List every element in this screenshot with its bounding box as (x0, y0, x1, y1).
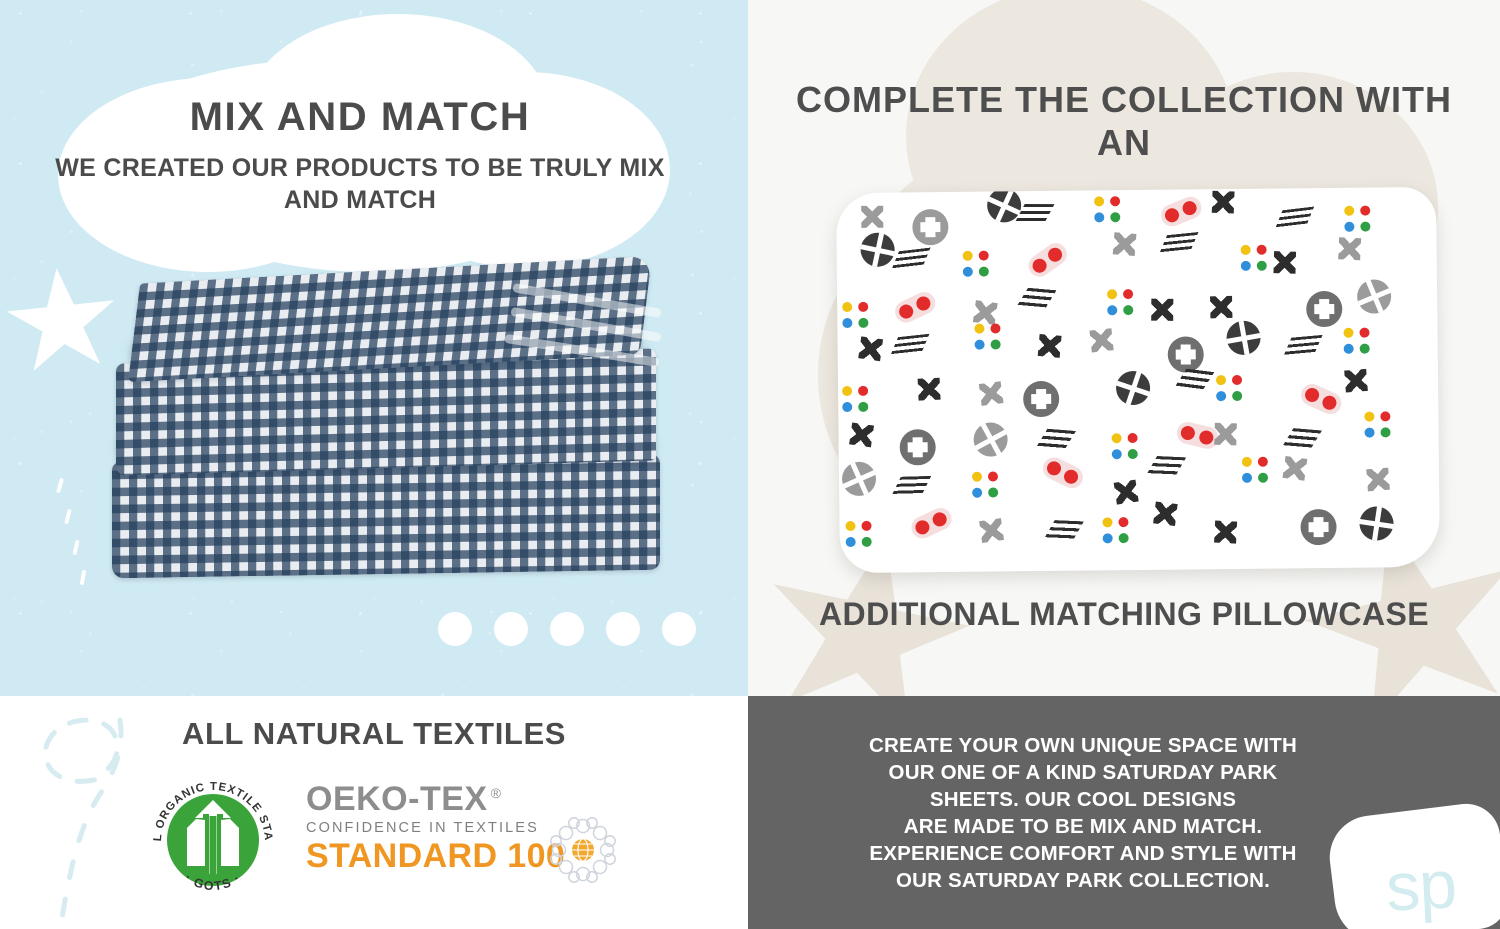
oeko-tex-tagline: CONFIDENCE IN TEXTILES (306, 820, 556, 836)
oeko-tex-name: OEKO-TEX® (306, 782, 556, 816)
panel-mix-and-match: MIX AND MATCH WE CREATED OUR PRODUCTS TO… (0, 0, 748, 696)
infographic-page: MIX AND MATCH WE CREATED OUR PRODUCTS TO… (0, 0, 1500, 929)
print-motif-quad (1242, 456, 1268, 482)
brand-description-line: OUR ONE OF A KIND SATURDAY PARK (788, 759, 1378, 786)
print-motif-xmark (1153, 501, 1178, 526)
collection-headline: COMPLETE THE COLLECTION WITH AN (774, 78, 1474, 164)
brand-description-line: ARE MADE TO BE MIX AND MATCH. (788, 813, 1378, 840)
print-motif-quad (1102, 517, 1128, 543)
collection-text-block: COMPLETE THE COLLECTION WITH AN (774, 78, 1474, 164)
print-motif-stick (837, 457, 882, 502)
print-motif-quad (1107, 289, 1133, 315)
print-motif-capsule (892, 288, 939, 326)
print-motif-quad (1111, 433, 1137, 459)
print-motif-hatch (1159, 231, 1199, 254)
print-motif-stick (968, 416, 1014, 462)
dot (606, 612, 640, 646)
print-motif-quad (1344, 205, 1370, 231)
print-motif-capsule (1158, 194, 1205, 230)
print-motif-stick (1223, 318, 1262, 357)
print-motif-hatch (1145, 456, 1186, 477)
star-decoration-icon (3, 263, 121, 379)
print-motif-quad (1343, 327, 1369, 353)
print-motif-xmark (1274, 251, 1297, 274)
dashed-fleck-decoration (48, 478, 108, 588)
print-motif-dpad (1023, 381, 1059, 417)
mix-and-match-subtext: WE CREATED OUR PRODUCTS TO BE TRULY MIX … (50, 153, 670, 216)
pillowcase-product-image (836, 187, 1440, 573)
dot (662, 612, 696, 646)
print-motif-hatch (1281, 428, 1322, 450)
print-motif-xmark (979, 518, 1004, 543)
print-motif-hatch (1174, 368, 1215, 391)
print-motif-stick (1111, 367, 1154, 410)
print-motif-stick (858, 230, 898, 270)
panel-complete-the-collection: COMPLETE THE COLLECTION WITH AN ADDITION… (748, 0, 1500, 696)
pillowcase-caption: ADDITIONAL MATCHING PILLOWCASE (764, 596, 1484, 633)
print-motif-stick (1357, 504, 1396, 543)
game-controller-print-pattern (836, 187, 1440, 573)
mix-and-match-text-block: MIX AND MATCH WE CREATED OUR PRODUCTS TO… (50, 95, 670, 216)
print-motif-dpad (1300, 509, 1336, 545)
print-motif-hatch (1044, 520, 1085, 541)
print-motif-hatch (890, 334, 930, 357)
print-motif-dpad (1167, 336, 1203, 372)
print-motif-quad (1364, 412, 1390, 438)
print-motif-capsule (1039, 454, 1086, 492)
print-motif-xmark (1214, 520, 1237, 543)
print-motif-hatch (890, 248, 930, 272)
print-motif-hatch (1275, 207, 1315, 231)
print-motif-xmark (917, 378, 940, 401)
print-motif-dpad (912, 209, 948, 245)
print-motif-quad (842, 302, 868, 328)
print-motif-xmark (1282, 456, 1307, 481)
all-natural-textiles-title: ALL NATURAL TEXTILES (0, 716, 748, 752)
registered-trademark-icon: ® (491, 785, 502, 801)
print-motif-stick (1352, 274, 1396, 318)
print-motif-capsule (1174, 420, 1220, 451)
print-motif-xmark (1210, 296, 1232, 318)
print-motif-xmark (858, 337, 883, 362)
brand-description-line: EXPERIENCE COMFORT AND STYLE WITH (788, 840, 1378, 867)
print-motif-hatch (891, 476, 931, 497)
print-motif-hatch (1035, 429, 1076, 451)
print-motif-xmark (1338, 237, 1361, 260)
brand-description-line: SHEETS. OUR COOL DESIGNS (788, 786, 1378, 813)
oeko-tex-wordmark: OEKO-TEX (306, 780, 488, 818)
print-motif-quad (842, 386, 868, 412)
print-motif-xmark (1211, 190, 1234, 213)
print-motif-xmark (1090, 328, 1114, 352)
print-motif-quad (972, 472, 998, 498)
print-motif-quad (963, 250, 989, 276)
gingham-sheet-stack-image (112, 262, 672, 582)
oeko-tex-standard: STANDARD 100 (306, 839, 556, 875)
oeko-tex-globe-emblem-icon (545, 812, 621, 888)
print-motif-quad (975, 323, 1001, 349)
dot-row-decoration (438, 612, 696, 646)
print-motif-xmark (1214, 423, 1237, 446)
print-motif-quad (845, 521, 871, 547)
print-motif-dpad (1306, 291, 1342, 327)
print-motif-xmark (1345, 368, 1369, 392)
oeko-tex-certification-logo: OEKO-TEX® CONFIDENCE IN TEXTILES STANDAR… (306, 782, 556, 875)
mix-and-match-headline: MIX AND MATCH (50, 95, 670, 139)
print-motif-xmark (1113, 232, 1137, 256)
print-motif-xmark (861, 206, 883, 228)
saturday-park-logo: sp (1354, 843, 1488, 929)
print-motif-capsule (907, 504, 954, 542)
print-motif-xmark (972, 300, 997, 325)
dot (550, 612, 584, 646)
brand-description-line: OUR SATURDAY PARK COLLECTION. (788, 867, 1378, 894)
print-motif-xmark (1038, 334, 1062, 358)
print-motif-quad (1216, 375, 1242, 401)
print-motif-dpad (899, 429, 935, 465)
print-motif-xmark (1114, 480, 1139, 505)
brand-description-paragraph: CREATE YOUR OWN UNIQUE SPACE WITHOUR ONE… (788, 732, 1378, 894)
print-motif-quad (1240, 245, 1266, 271)
print-motif-hatch (1016, 288, 1057, 311)
print-motif-xmark (1151, 299, 1173, 321)
brand-description-line: CREATE YOUR OWN UNIQUE SPACE WITH (788, 732, 1378, 759)
panel-brand-description: CREATE YOUR OWN UNIQUE SPACE WITHOUR ONE… (748, 696, 1500, 929)
print-motif-capsule (1297, 380, 1344, 417)
print-motif-xmark (979, 381, 1004, 406)
print-motif-capsule (1024, 238, 1071, 280)
print-motif-hatch (1283, 335, 1323, 358)
dot (438, 612, 472, 646)
dot (494, 612, 528, 646)
print-motif-xmark (1366, 468, 1390, 492)
gots-certification-logo: GLOBAL ORGANIC TEXTILE STANDARD · GOTS · (143, 770, 283, 910)
print-motif-xmark (849, 423, 874, 448)
print-motif-quad (1094, 197, 1120, 223)
